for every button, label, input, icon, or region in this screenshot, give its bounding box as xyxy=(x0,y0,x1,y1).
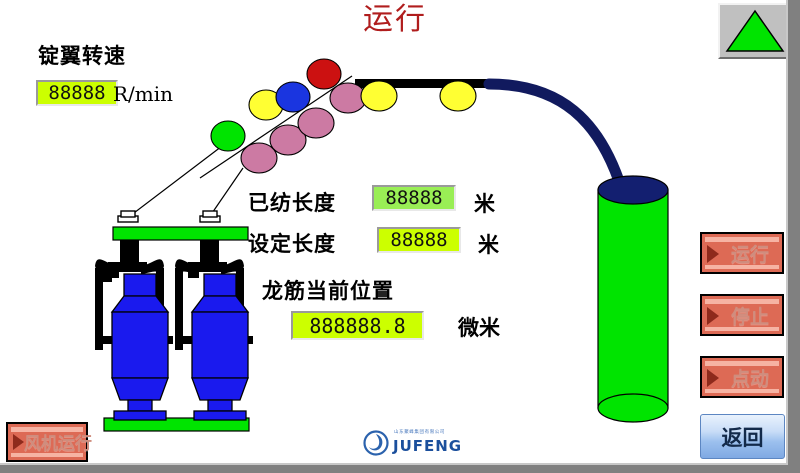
status-ball xyxy=(298,108,334,138)
logo-wordmark: JUFENG xyxy=(393,437,462,455)
button-highlight-bottom xyxy=(705,327,779,331)
button-highlight-bottom xyxy=(11,453,83,457)
rail-position-unit: 微米 xyxy=(458,312,500,342)
triangle-right-icon xyxy=(707,369,719,387)
fan-run-button[interactable]: 风机运行 xyxy=(6,422,88,462)
rail-position-label: 龙筋当前位置 xyxy=(262,275,394,305)
flyer-head-left xyxy=(118,211,138,222)
flyer-left xyxy=(95,240,173,350)
triangle-right-icon xyxy=(707,307,719,325)
jog-button[interactable]: 点动 xyxy=(700,356,784,398)
button-highlight-bottom xyxy=(705,265,779,269)
run-indicator-lamp[interactable] xyxy=(718,3,788,59)
run-button[interactable]: 运行 xyxy=(700,232,784,274)
spun-length-value[interactable]: 88888 xyxy=(372,185,456,211)
top-draft-bar xyxy=(355,79,493,88)
spindle-assembly xyxy=(95,211,253,431)
sliver-can xyxy=(598,176,668,422)
set-length-value[interactable]: 88888 xyxy=(377,227,461,253)
flyer-head-right xyxy=(200,211,220,222)
bobbin-left xyxy=(112,274,168,420)
hmi-screen: 运行 锭翼转速 88888 R/min 已纺长度 88888 米 设定长度 88… xyxy=(0,0,800,473)
ball-group xyxy=(211,59,476,173)
ball-track-line xyxy=(200,76,352,178)
status-ball xyxy=(241,143,277,173)
status-ball xyxy=(307,59,341,89)
status-ball xyxy=(270,125,306,155)
triangle-right-icon xyxy=(707,245,719,263)
sliver-path xyxy=(489,84,622,190)
spun-length-unit: 米 xyxy=(474,188,495,218)
return-button[interactable]: 返回 xyxy=(700,414,785,459)
triangle-up-icon xyxy=(725,9,785,55)
rail-position-value[interactable]: 888888.8 xyxy=(291,311,424,340)
guide-lines xyxy=(126,140,243,219)
flyer-right xyxy=(175,240,253,350)
set-length-label: 设定长度 xyxy=(248,228,336,258)
status-ball xyxy=(330,83,366,113)
status-ball xyxy=(440,81,476,111)
triangle-right-icon xyxy=(13,434,24,450)
spun-length-label: 已纺长度 xyxy=(248,187,336,217)
logo-subtext: 山东聚峰集团有限公司 xyxy=(394,429,445,435)
button-highlight-bottom xyxy=(705,389,779,393)
page-title: 运行 xyxy=(330,2,460,38)
status-ball xyxy=(211,121,245,151)
spindle-speed-label: 锭翼转速 xyxy=(38,40,126,70)
bobbin-right xyxy=(192,274,248,420)
spindle-speed-unit: R/min xyxy=(113,82,173,106)
swirl-circle-icon xyxy=(363,430,389,456)
window-edge-right xyxy=(788,0,800,473)
status-ball xyxy=(276,82,310,112)
stop-button[interactable]: 停止 xyxy=(700,294,784,336)
window-edge-bottom xyxy=(0,465,800,473)
company-logo: 山东聚峰集团有限公司 JUFENG xyxy=(363,428,463,458)
set-length-unit: 米 xyxy=(478,229,499,259)
status-ball xyxy=(249,90,283,120)
status-ball xyxy=(361,81,397,111)
spindle-speed-value[interactable]: 88888 xyxy=(36,80,118,106)
